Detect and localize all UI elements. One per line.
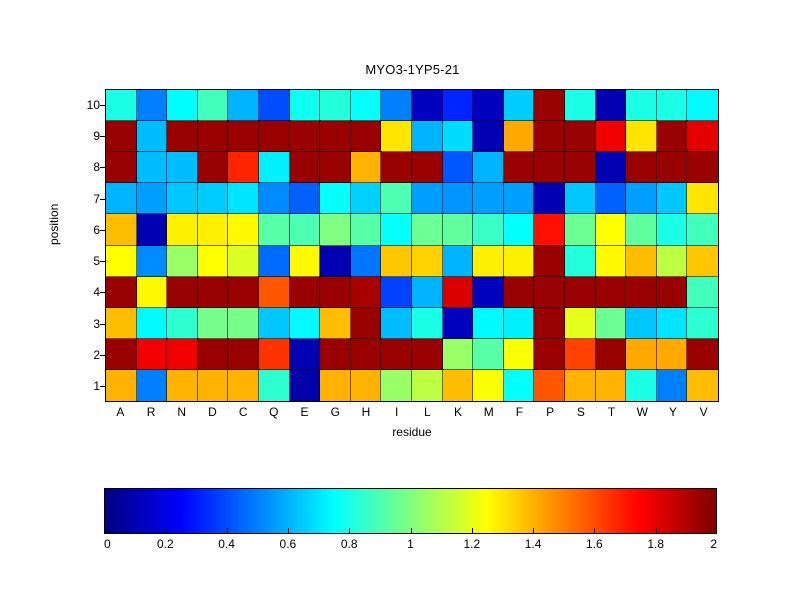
heatmap-cell (228, 183, 259, 214)
heatmap-cell (106, 152, 137, 183)
heatmap-cell (626, 246, 657, 277)
y-tick-label: 4 (72, 286, 100, 298)
colorbar-tick-mark (594, 528, 595, 534)
heatmap-cell (198, 370, 229, 401)
heatmap-cell (381, 370, 412, 401)
heatmap-cell (167, 246, 198, 277)
heatmap-cell (443, 339, 474, 370)
heatmap-cell (167, 90, 198, 121)
heatmap-grid (106, 90, 718, 401)
heatmap-cell (381, 90, 412, 121)
heatmap-cell (290, 246, 321, 277)
heatmap-cell (198, 214, 229, 245)
heatmap-cell (534, 370, 565, 401)
heatmap-cell (657, 152, 688, 183)
heatmap-cell (167, 214, 198, 245)
heatmap-cell (687, 183, 718, 214)
heatmap-cell (596, 214, 627, 245)
heatmap-cell (412, 277, 443, 308)
colorbar-tick-mark (227, 528, 228, 534)
heatmap-cell (106, 246, 137, 277)
heatmap-cell (381, 339, 412, 370)
heatmap-cell (473, 339, 504, 370)
heatmap-cell (687, 277, 718, 308)
heatmap-cell (137, 152, 168, 183)
heatmap-cell (167, 183, 198, 214)
x-tick-label: M (473, 404, 504, 422)
heatmap-cell (412, 370, 443, 401)
heatmap-cell (626, 370, 657, 401)
heatmap-cell (137, 121, 168, 152)
heatmap-cell (596, 183, 627, 214)
x-tick-label: K (443, 404, 474, 422)
heatmap-cell (687, 90, 718, 121)
heatmap-cell (381, 246, 412, 277)
heatmap-cell (657, 121, 688, 152)
heatmap-cell (106, 121, 137, 152)
heatmap-cell (412, 339, 443, 370)
heatmap-cell (228, 152, 259, 183)
heatmap-cell (473, 370, 504, 401)
x-tick-label: F (504, 404, 535, 422)
colorbar-tick-label: 1 (407, 537, 414, 551)
heatmap-cell (565, 152, 596, 183)
figure-canvas: MYO3-1YP5-21 position 10987654321 ARNDCQ… (0, 0, 800, 600)
colorbar-tick-mark (104, 528, 105, 534)
heatmap-cell (320, 339, 351, 370)
y-tick-label: 6 (72, 224, 100, 236)
heatmap-cell (412, 152, 443, 183)
heatmap-cell (320, 214, 351, 245)
heatmap-cell (259, 339, 290, 370)
heatmap-cell (473, 308, 504, 339)
heatmap-cell (443, 277, 474, 308)
x-tick-label: A (105, 404, 136, 422)
heatmap-cell (351, 183, 382, 214)
heatmap-cell (565, 246, 596, 277)
heatmap-cell (626, 121, 657, 152)
heatmap-cell (626, 183, 657, 214)
colorbar-tick-mark (165, 528, 166, 534)
heatmap-cell (596, 308, 627, 339)
x-tick-label: L (412, 404, 443, 422)
heatmap-cell (596, 121, 627, 152)
heatmap-cell (657, 214, 688, 245)
heatmap-cell (534, 339, 565, 370)
heatmap-cell (137, 183, 168, 214)
heatmap-cell (106, 183, 137, 214)
heatmap-cell (565, 214, 596, 245)
x-axis-label: residue (105, 425, 719, 439)
heatmap-cell (137, 370, 168, 401)
heatmap-cell (320, 121, 351, 152)
x-tick-label: W (627, 404, 658, 422)
heatmap-cell (412, 308, 443, 339)
heatmap-cell (657, 339, 688, 370)
heatmap-cell (443, 152, 474, 183)
heatmap-cell (565, 121, 596, 152)
heatmap-cell (320, 246, 351, 277)
heatmap-cell (687, 214, 718, 245)
heatmap-cell (443, 370, 474, 401)
heatmap-cell (228, 246, 259, 277)
colorbar-tick-label: 1.8 (647, 537, 664, 551)
heatmap-cell (504, 121, 535, 152)
heatmap-cell (657, 246, 688, 277)
heatmap-cell (657, 370, 688, 401)
heatmap-cell (198, 183, 229, 214)
heatmap-cell (351, 277, 382, 308)
heatmap-cell (167, 370, 198, 401)
heatmap-cell (443, 121, 474, 152)
heatmap-cell (198, 339, 229, 370)
heatmap-cell (504, 308, 535, 339)
heatmap-cell (106, 308, 137, 339)
x-axis-ticks: ARNDCQEGHILKMFPSTWYV (105, 404, 719, 422)
colorbar-tick-mark (288, 528, 289, 534)
heatmap-cell (137, 214, 168, 245)
y-tick-label: 1 (72, 380, 100, 392)
heatmap-cell (565, 183, 596, 214)
y-axis-label: position (47, 204, 61, 245)
heatmap-cell (137, 277, 168, 308)
heatmap-cell (473, 121, 504, 152)
heatmap-cell (137, 90, 168, 121)
x-tick-label: S (566, 404, 597, 422)
heatmap-cell (167, 277, 198, 308)
heatmap-cell (504, 183, 535, 214)
heatmap-cell (320, 183, 351, 214)
heatmap-cell (381, 214, 412, 245)
heatmap-cell (259, 121, 290, 152)
heatmap-plot-area (105, 89, 719, 402)
heatmap-cell (381, 277, 412, 308)
heatmap-cell (351, 308, 382, 339)
heatmap-cell (596, 246, 627, 277)
colorbar-tick-label: 1.4 (525, 537, 542, 551)
x-tick-label: V (688, 404, 719, 422)
heatmap-cell (228, 308, 259, 339)
colorbar-tick-label: 1.2 (463, 537, 480, 551)
heatmap-cell (198, 308, 229, 339)
heatmap-cell (259, 90, 290, 121)
heatmap-cell (198, 90, 229, 121)
colorbar-tick-mark (411, 528, 412, 534)
heatmap-cell (320, 90, 351, 121)
heatmap-cell (228, 121, 259, 152)
heatmap-cell (504, 214, 535, 245)
x-tick-label: E (289, 404, 320, 422)
colorbar-tick-mark (656, 528, 657, 534)
heatmap-cell (504, 277, 535, 308)
heatmap-cell (198, 121, 229, 152)
heatmap-cell (565, 277, 596, 308)
heatmap-cell (596, 370, 627, 401)
y-tick-label: 2 (72, 349, 100, 361)
x-tick-label: P (535, 404, 566, 422)
y-tick-label: 7 (72, 193, 100, 205)
heatmap-cell (351, 90, 382, 121)
heatmap-cell (259, 246, 290, 277)
heatmap-cell (473, 246, 504, 277)
heatmap-cell (106, 370, 137, 401)
heatmap-cell (473, 183, 504, 214)
heatmap-cell (626, 152, 657, 183)
heatmap-cell (565, 90, 596, 121)
heatmap-cell (351, 370, 382, 401)
heatmap-cell (504, 90, 535, 121)
heatmap-cell (198, 152, 229, 183)
heatmap-cell (259, 308, 290, 339)
y-tick-label: 9 (72, 130, 100, 142)
heatmap-cell (596, 90, 627, 121)
heatmap-cell (320, 308, 351, 339)
heatmap-cell (504, 370, 535, 401)
heatmap-cell (106, 339, 137, 370)
heatmap-cell (228, 370, 259, 401)
x-tick-label: G (320, 404, 351, 422)
heatmap-cell (626, 90, 657, 121)
heatmap-cell (320, 152, 351, 183)
heatmap-cell (137, 308, 168, 339)
heatmap-cell (687, 246, 718, 277)
heatmap-cell (228, 339, 259, 370)
colorbar-tick-label: 0.4 (218, 537, 235, 551)
heatmap-cell (137, 339, 168, 370)
heatmap-cell (657, 183, 688, 214)
heatmap-cell (290, 90, 321, 121)
heatmap-cell (381, 308, 412, 339)
x-tick-label: T (596, 404, 627, 422)
x-tick-label: R (136, 404, 167, 422)
x-tick-label: Y (658, 404, 689, 422)
heatmap-cell (443, 183, 474, 214)
heatmap-cell (534, 90, 565, 121)
heatmap-cell (290, 308, 321, 339)
heatmap-cell (443, 308, 474, 339)
y-tick-label: 10 (72, 99, 100, 111)
heatmap-cell (106, 214, 137, 245)
heatmap-cell (259, 152, 290, 183)
y-tick-label: 3 (72, 318, 100, 330)
colorbar-ticks: 00.20.40.60.811.21.41.61.82 (104, 534, 717, 554)
x-tick-label: N (166, 404, 197, 422)
heatmap-cell (137, 246, 168, 277)
heatmap-cell (412, 246, 443, 277)
x-tick-label: D (197, 404, 228, 422)
colorbar-tick-label: 0.6 (280, 537, 297, 551)
heatmap-cell (320, 277, 351, 308)
colorbar-tick-label: 0.2 (157, 537, 174, 551)
y-axis-ticks: 10987654321 (70, 89, 100, 402)
x-tick-label: Q (259, 404, 290, 422)
heatmap-cell (565, 339, 596, 370)
heatmap-cell (473, 152, 504, 183)
heatmap-cell (106, 277, 137, 308)
heatmap-cell (259, 277, 290, 308)
heatmap-cell (167, 308, 198, 339)
colorbar-tick-mark (472, 528, 473, 534)
heatmap-cell (626, 277, 657, 308)
heatmap-cell (290, 277, 321, 308)
heatmap-cell (626, 214, 657, 245)
heatmap-cell (198, 246, 229, 277)
heatmap-cell (504, 152, 535, 183)
heatmap-cell (381, 121, 412, 152)
heatmap-cell (351, 214, 382, 245)
heatmap-cell (596, 339, 627, 370)
colorbar-tick-label: 0 (104, 537, 111, 551)
heatmap-cell (167, 152, 198, 183)
heatmap-cell (443, 246, 474, 277)
colorbar-tick-label: 2 (710, 537, 717, 551)
heatmap-cell (565, 308, 596, 339)
colorbar-tick-label: 1.6 (586, 537, 603, 551)
colorbar-tick-mark (533, 528, 534, 534)
heatmap-cell (687, 370, 718, 401)
heatmap-cell (626, 339, 657, 370)
colorbar-tick-mark (716, 528, 717, 534)
heatmap-cell (596, 152, 627, 183)
heatmap-cell (473, 214, 504, 245)
heatmap-cell (473, 90, 504, 121)
heatmap-cell (412, 183, 443, 214)
heatmap-cell (412, 121, 443, 152)
heatmap-cell (534, 214, 565, 245)
x-tick-label: I (381, 404, 412, 422)
heatmap-cell (504, 246, 535, 277)
y-tick-label: 5 (72, 255, 100, 267)
heatmap-cell (596, 277, 627, 308)
chart-title: MYO3-1YP5-21 (105, 62, 720, 77)
heatmap-cell (290, 183, 321, 214)
heatmap-cell (443, 214, 474, 245)
heatmap-cell (228, 90, 259, 121)
heatmap-cell (565, 370, 596, 401)
heatmap-cell (412, 214, 443, 245)
heatmap-cell (259, 183, 290, 214)
heatmap-cell (473, 277, 504, 308)
heatmap-cell (259, 214, 290, 245)
heatmap-cell (534, 152, 565, 183)
heatmap-cell (381, 183, 412, 214)
heatmap-cell (290, 214, 321, 245)
x-tick-label: H (351, 404, 382, 422)
heatmap-cell (657, 277, 688, 308)
heatmap-cell (351, 339, 382, 370)
y-tick-label: 8 (72, 161, 100, 173)
heatmap-cell (687, 152, 718, 183)
heatmap-cell (290, 152, 321, 183)
heatmap-cell (290, 121, 321, 152)
heatmap-cell (412, 90, 443, 121)
heatmap-cell (290, 339, 321, 370)
heatmap-cell (534, 277, 565, 308)
colorbar-tick-label: 0.8 (341, 537, 358, 551)
heatmap-cell (351, 246, 382, 277)
heatmap-cell (657, 90, 688, 121)
heatmap-cell (626, 308, 657, 339)
heatmap-cell (534, 121, 565, 152)
heatmap-cell (228, 214, 259, 245)
heatmap-cell (259, 370, 290, 401)
heatmap-cell (351, 121, 382, 152)
heatmap-cell (687, 308, 718, 339)
heatmap-cell (687, 121, 718, 152)
heatmap-cell (534, 246, 565, 277)
heatmap-cell (504, 339, 535, 370)
heatmap-cell (290, 370, 321, 401)
heatmap-cell (351, 152, 382, 183)
heatmap-cell (106, 90, 137, 121)
colorbar-tick-mark (349, 528, 350, 534)
heatmap-cell (443, 90, 474, 121)
heatmap-cell (534, 308, 565, 339)
heatmap-cell (534, 183, 565, 214)
heatmap-cell (198, 277, 229, 308)
x-tick-label: C (228, 404, 259, 422)
heatmap-cell (320, 370, 351, 401)
heatmap-cell (687, 339, 718, 370)
heatmap-cell (381, 152, 412, 183)
heatmap-cell (228, 277, 259, 308)
colorbar-gradient (105, 489, 716, 533)
heatmap-cell (657, 308, 688, 339)
heatmap-cell (167, 339, 198, 370)
heatmap-cell (167, 121, 198, 152)
